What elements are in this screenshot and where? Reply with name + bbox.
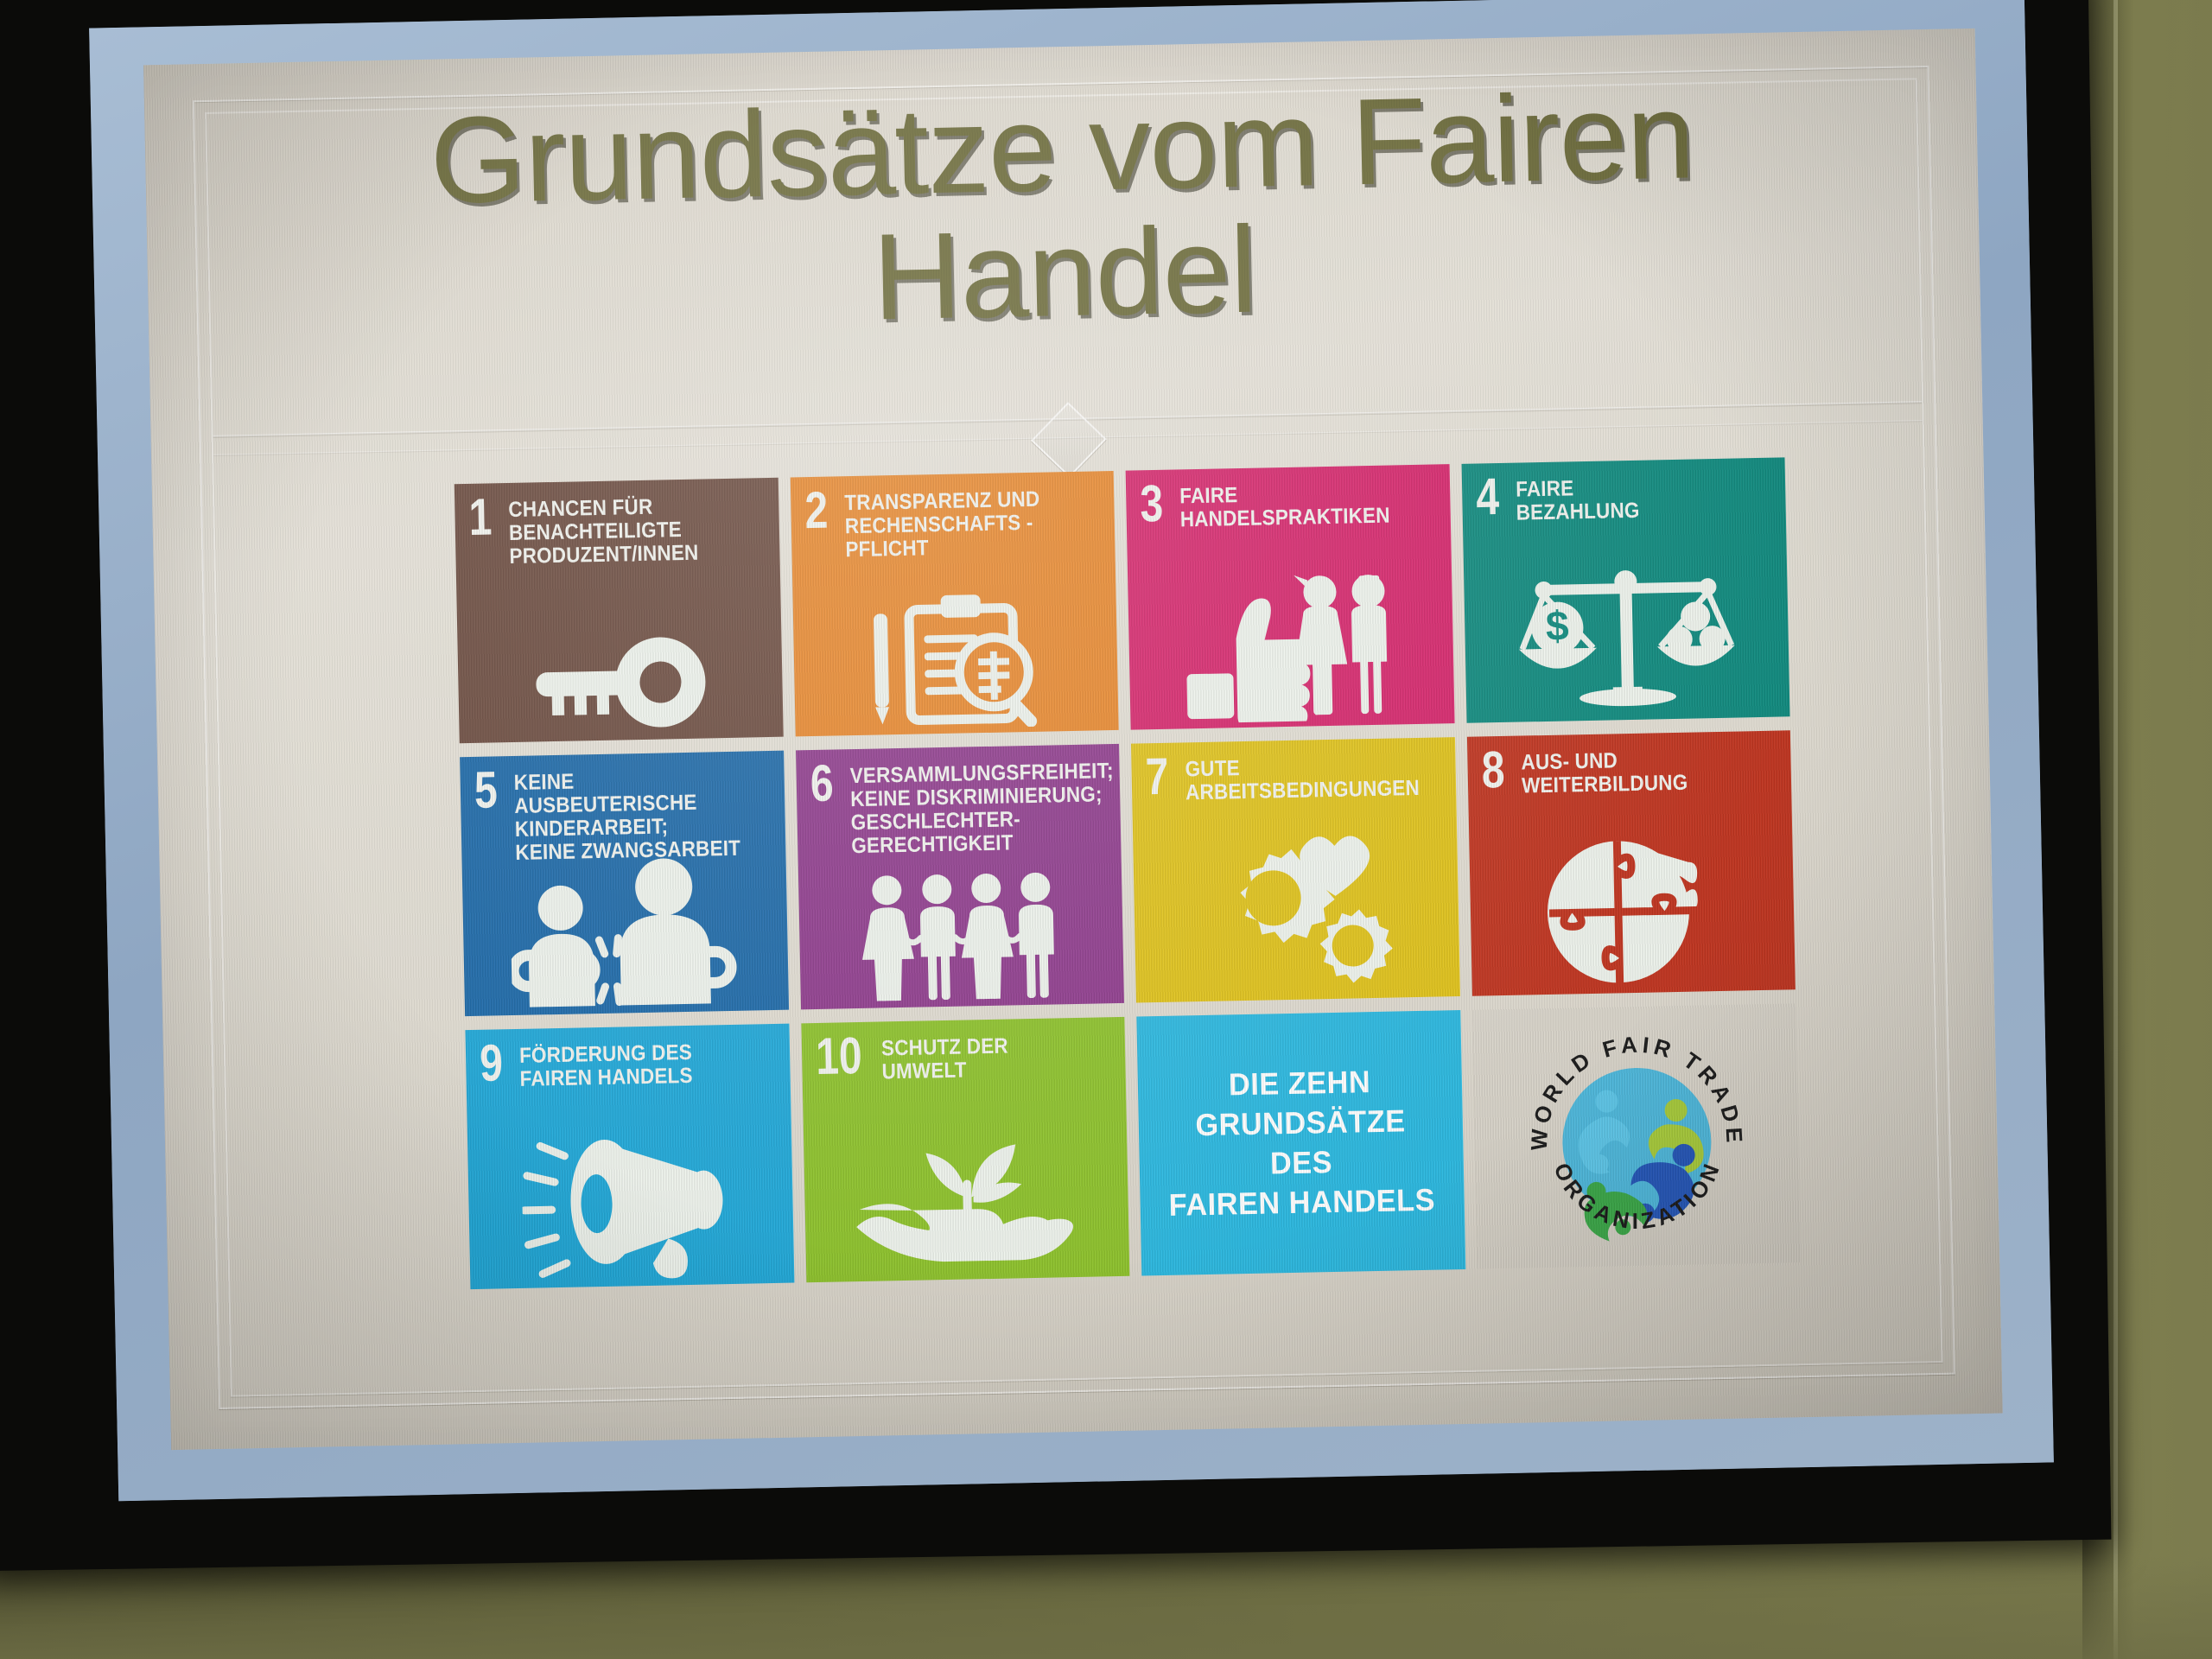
principle-number: 1	[468, 493, 493, 541]
principle-number: 10	[815, 1033, 861, 1080]
principle-tile-7[interactable]: 7 Gute Arbeitsbedingungen	[1131, 737, 1459, 1002]
principle-tile-5[interactable]: 5 Keine ausbeuterische Kinderarbeit; kei…	[460, 751, 788, 1016]
principle-tile-4[interactable]: 4 Faire Bezahlung	[1461, 457, 1789, 722]
principle-tile-3[interactable]: 3 Faire Handelspraktiken	[1126, 464, 1454, 729]
principle-number: 2	[804, 487, 828, 535]
svg-text:$: $	[1545, 603, 1569, 650]
wfto-logo-tile[interactable]: WORLD FAIR TRADE ORGANIZATION	[1472, 1003, 1801, 1268]
summary-text: Die zehn Grundsätze des fairen Handels	[1166, 1061, 1436, 1225]
group-of-people-icon	[798, 834, 1124, 1004]
megaphone-icon	[467, 1114, 794, 1284]
principle-label: Aus- und Weiterbildung	[1521, 748, 1688, 798]
key-icon	[456, 568, 783, 738]
balance-scale-icon: $	[1463, 547, 1789, 717]
principle-number: 9	[480, 1039, 504, 1087]
principle-label: Förderung des fairen Handels	[519, 1041, 693, 1091]
wall-bottom-shadow	[0, 1555, 2212, 1659]
principle-number: 6	[810, 760, 834, 808]
principle-label: Faire Bezahlung	[1515, 476, 1639, 525]
puzzle-circle-icon	[1468, 820, 1795, 990]
principle-tile-6[interactable]: 6 Versammlungsfreiheit; keine Diskrimini…	[796, 744, 1124, 1009]
summary-tile[interactable]: Die zehn Grundsätze des fairen Handels	[1136, 1010, 1465, 1275]
principle-number: 8	[1481, 747, 1505, 794]
principle-label: Faire Handelspraktiken	[1179, 481, 1390, 532]
principle-label: Gute Arbeitsbedingungen	[1185, 753, 1420, 804]
principle-tile-9[interactable]: 9 Förderung des fairen Handels	[465, 1024, 793, 1289]
gears-heart-icon	[1133, 827, 1459, 997]
principle-number: 3	[1140, 480, 1164, 528]
presentation-slide: Grundsätze vom Fairen Handel 1 Chancen f…	[89, 0, 2054, 1501]
clipboard-magnifier-icon	[791, 561, 1118, 731]
principle-number: 5	[474, 766, 498, 814]
principle-tile-8[interactable]: 8 Aus- und Weiterbildung	[1466, 730, 1795, 995]
ten-principles-grid: 1 Chancen für benachteiligte Produzent/i…	[454, 457, 1801, 1289]
principle-number: 7	[1145, 753, 1169, 801]
slide-title: Grundsätze vom Fairen Handel	[222, 70, 1904, 354]
principle-tile-1[interactable]: 1 Chancen für benachteiligte Produzent/i…	[454, 478, 783, 743]
hand-sprout-icon	[803, 1107, 1129, 1277]
broken-chain-icon	[461, 841, 788, 1011]
room-background: Grundsätze vom Fairen Handel 1 Chancen f…	[0, 0, 2212, 1659]
principle-number: 4	[1475, 474, 1499, 521]
principle-tile-10[interactable]: 10 Schutz der Umwelt	[801, 1017, 1129, 1282]
principle-tile-2[interactable]: 2 Transparenz und Rechenschafts - pflich…	[790, 471, 1118, 736]
principle-label: Chancen für benachteiligte Produzent/inn…	[508, 495, 699, 569]
principle-label: Schutz der Umwelt	[880, 1035, 1008, 1084]
slide-content-panel: Grundsätze vom Fairen Handel 1 Chancen f…	[143, 29, 2003, 1450]
thumbs-up-people-icon	[1128, 554, 1454, 724]
principle-label: Transparenz und Rechenschafts - pflicht	[844, 488, 1041, 563]
world-fair-trade-organization-logo-icon: WORLD FAIR TRADE ORGANIZATION	[1513, 1019, 1760, 1266]
